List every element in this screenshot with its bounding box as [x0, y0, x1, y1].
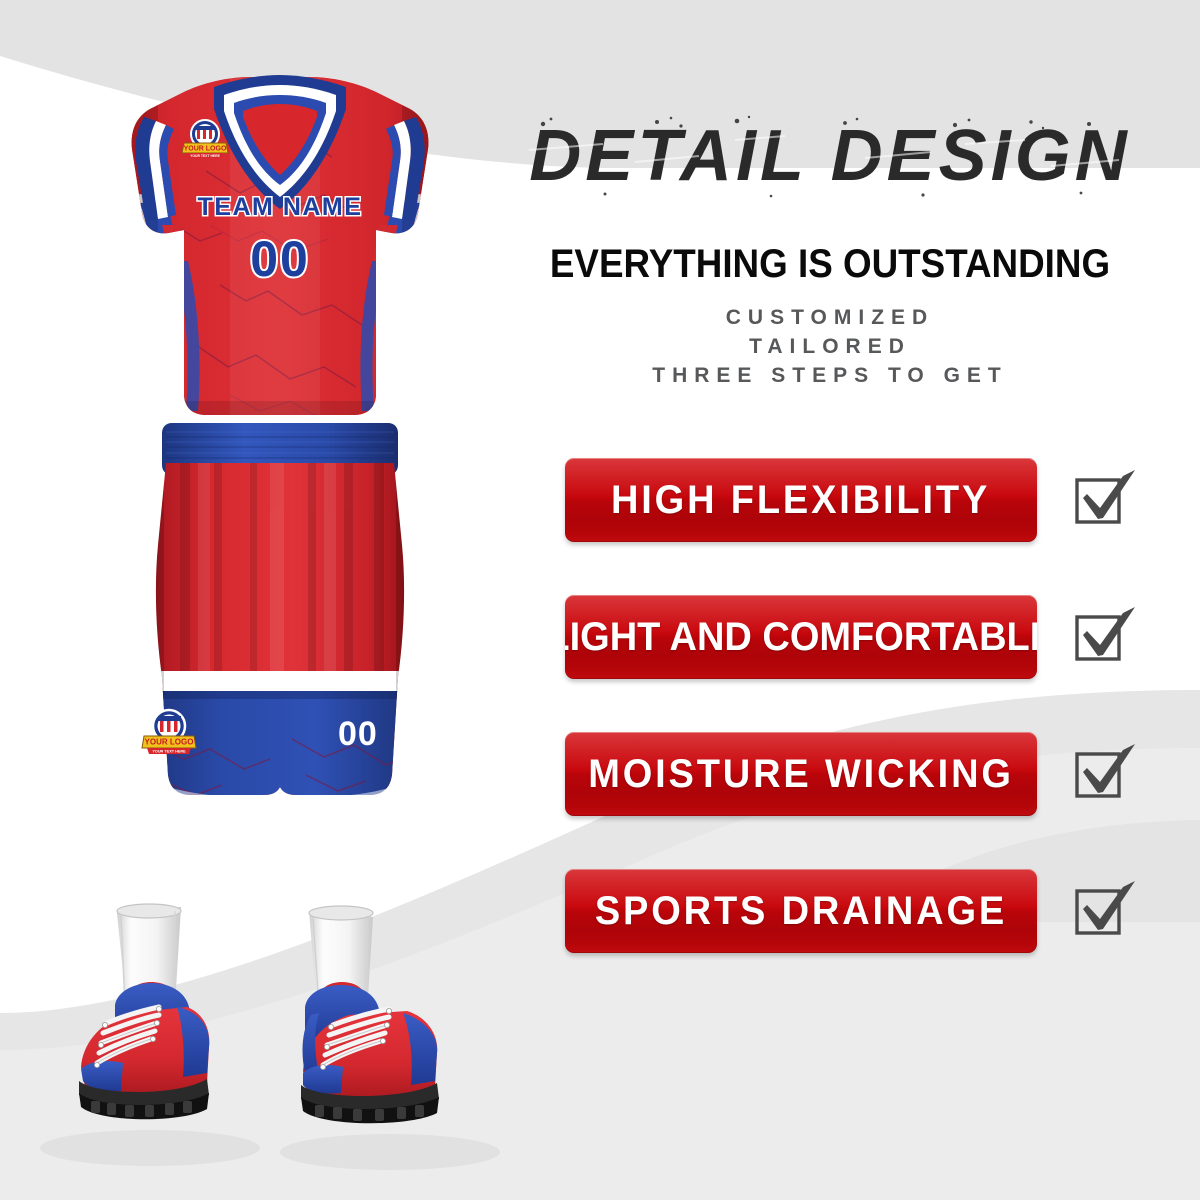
shoes-svg — [55, 895, 475, 1155]
feature-badge-light-and-comfortable[interactable]: LIGHT AND COMFORTABLE — [565, 595, 1037, 679]
headline-brush-svg: DETAIL DESIGN — [485, 110, 1175, 202]
checkmark-box-svg — [1067, 464, 1139, 536]
shoe-right — [301, 906, 439, 1123]
jersey — [110, 75, 450, 435]
checkmark-box-icon — [1067, 601, 1139, 673]
page-title: DETAIL DESIGN — [485, 110, 1175, 202]
feature-badge-moisture-wicking[interactable]: MOISTURE WICKING — [565, 732, 1037, 816]
feature-list: HIGH FLEXIBILITY LIGHT AND COMFORTABLE — [460, 455, 1200, 956]
checkmark-box-svg — [1067, 601, 1139, 673]
feature-row: HIGH FLEXIBILITY — [460, 455, 1200, 545]
basketball-shoes-image — [55, 895, 475, 1155]
headline-text: DETAIL DESIGN — [529, 116, 1130, 196]
uniform-svg — [110, 75, 450, 815]
shorts — [130, 463, 430, 813]
tagline-item: TAILORED — [460, 332, 1200, 361]
feature-badge-label: LIGHT AND COMFORTABLE — [565, 617, 1037, 657]
feature-badge-label: HIGH FLEXIBILITY — [611, 480, 990, 520]
product-showcase: TEAM NAME 00 00 YOU — [0, 0, 500, 1200]
basketball-uniform-image: TEAM NAME 00 00 YOU — [110, 75, 450, 815]
page-subtitle: EVERYTHING IS OUTSTANDING — [490, 243, 1171, 285]
feature-badge-sports-drainage[interactable]: SPORTS DRAINAGE — [565, 869, 1037, 953]
feature-badge-label: SPORTS DRAINAGE — [595, 891, 1007, 931]
shoe-left — [79, 904, 209, 1119]
tagline-item: CUSTOMIZED — [460, 303, 1200, 332]
feature-row: LIGHT AND COMFORTABLE — [460, 592, 1200, 682]
checkmark-box-icon — [1067, 464, 1139, 536]
tagline-list: CUSTOMIZED TAILORED THREE STEPS TO GET — [460, 303, 1200, 390]
product-marketing-banner: TEAM NAME 00 00 YOU — [0, 0, 1200, 1200]
tagline-item: THREE STEPS TO GET — [460, 361, 1200, 390]
checkmark-box-icon — [1067, 738, 1139, 810]
feature-row: SPORTS DRAINAGE — [460, 866, 1200, 956]
checkmark-box-icon — [1067, 875, 1139, 947]
feature-row: MOISTURE WICKING — [460, 729, 1200, 819]
checkmark-box-svg — [1067, 875, 1139, 947]
feature-badge-label: MOISTURE WICKING — [588, 754, 1014, 794]
feature-badge-high-flexibility[interactable]: HIGH FLEXIBILITY — [565, 458, 1037, 542]
checkmark-box-svg — [1067, 738, 1139, 810]
marketing-copy-panel: DETAIL DESIGN — [460, 0, 1200, 1200]
